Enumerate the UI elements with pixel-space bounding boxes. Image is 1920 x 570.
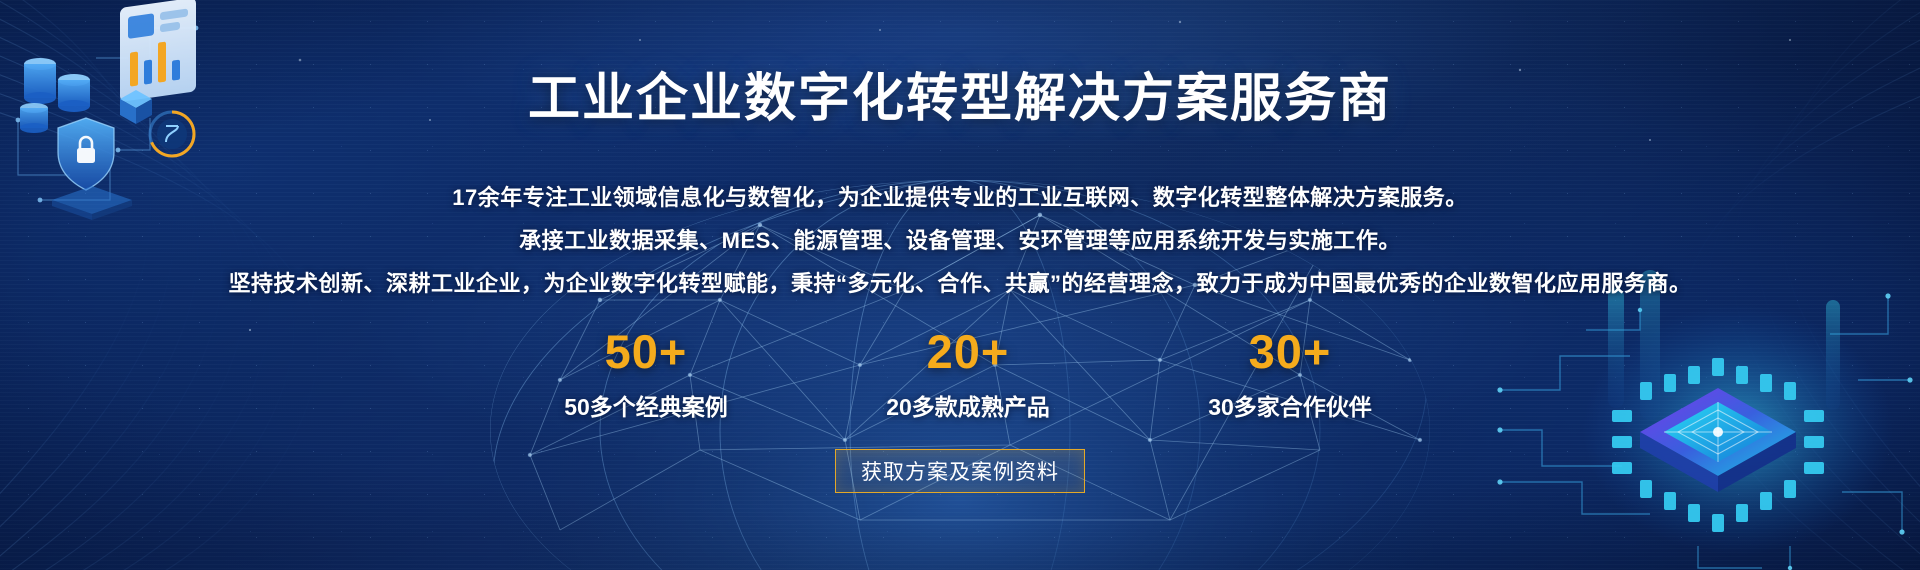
promo-banner: 工业企业数字化转型解决方案服务商 17余年专注工业领域信息化与数智化，为企业提供… [0, 0, 1920, 570]
stat-label: 20多款成熟产品 [886, 388, 1050, 422]
subtitle-line-3: 坚持技术创新、深耕工业企业，为企业数字化转型赋能，秉持“多元化、合作、共赢”的经… [228, 266, 1691, 298]
stat-number: 30+ [1249, 328, 1332, 375]
subtitle-line-2: 承接工业数据采集、MES、能源管理、设备管理、安环管理等应用系统开发与实施工作。 [519, 223, 1401, 255]
stat-label: 50多个经典案例 [564, 388, 728, 422]
stat-label: 30多家合作伙伴 [1208, 388, 1372, 422]
page-title: 工业企业数字化转型解决方案服务商 [528, 71, 1392, 127]
stat-item-partners: 30+ 30多家合作伙伴 [1195, 328, 1385, 422]
get-solution-materials-button[interactable]: 获取方案及案例资料 [835, 449, 1085, 493]
stat-item-cases: 50+ 50多个经典案例 [551, 328, 741, 422]
stat-number: 50+ [605, 328, 688, 375]
stat-item-products: 20+ 20多款成熟产品 [873, 328, 1063, 422]
banner-content: 工业企业数字化转型解决方案服务商 17余年专注工业领域信息化与数智化，为企业提供… [0, 0, 1920, 570]
stat-number: 20+ [927, 328, 1010, 375]
stats-group: 50+ 50多个经典案例 20+ 20多款成熟产品 30+ 30多家合作伙伴 [535, 328, 1385, 422]
subtitle-group: 17余年专注工业领域信息化与数智化，为企业提供专业的工业互联网、数字化转型整体解… [228, 180, 1691, 298]
subtitle-line-1: 17余年专注工业领域信息化与数智化，为企业提供专业的工业互联网、数字化转型整体解… [452, 180, 1467, 212]
